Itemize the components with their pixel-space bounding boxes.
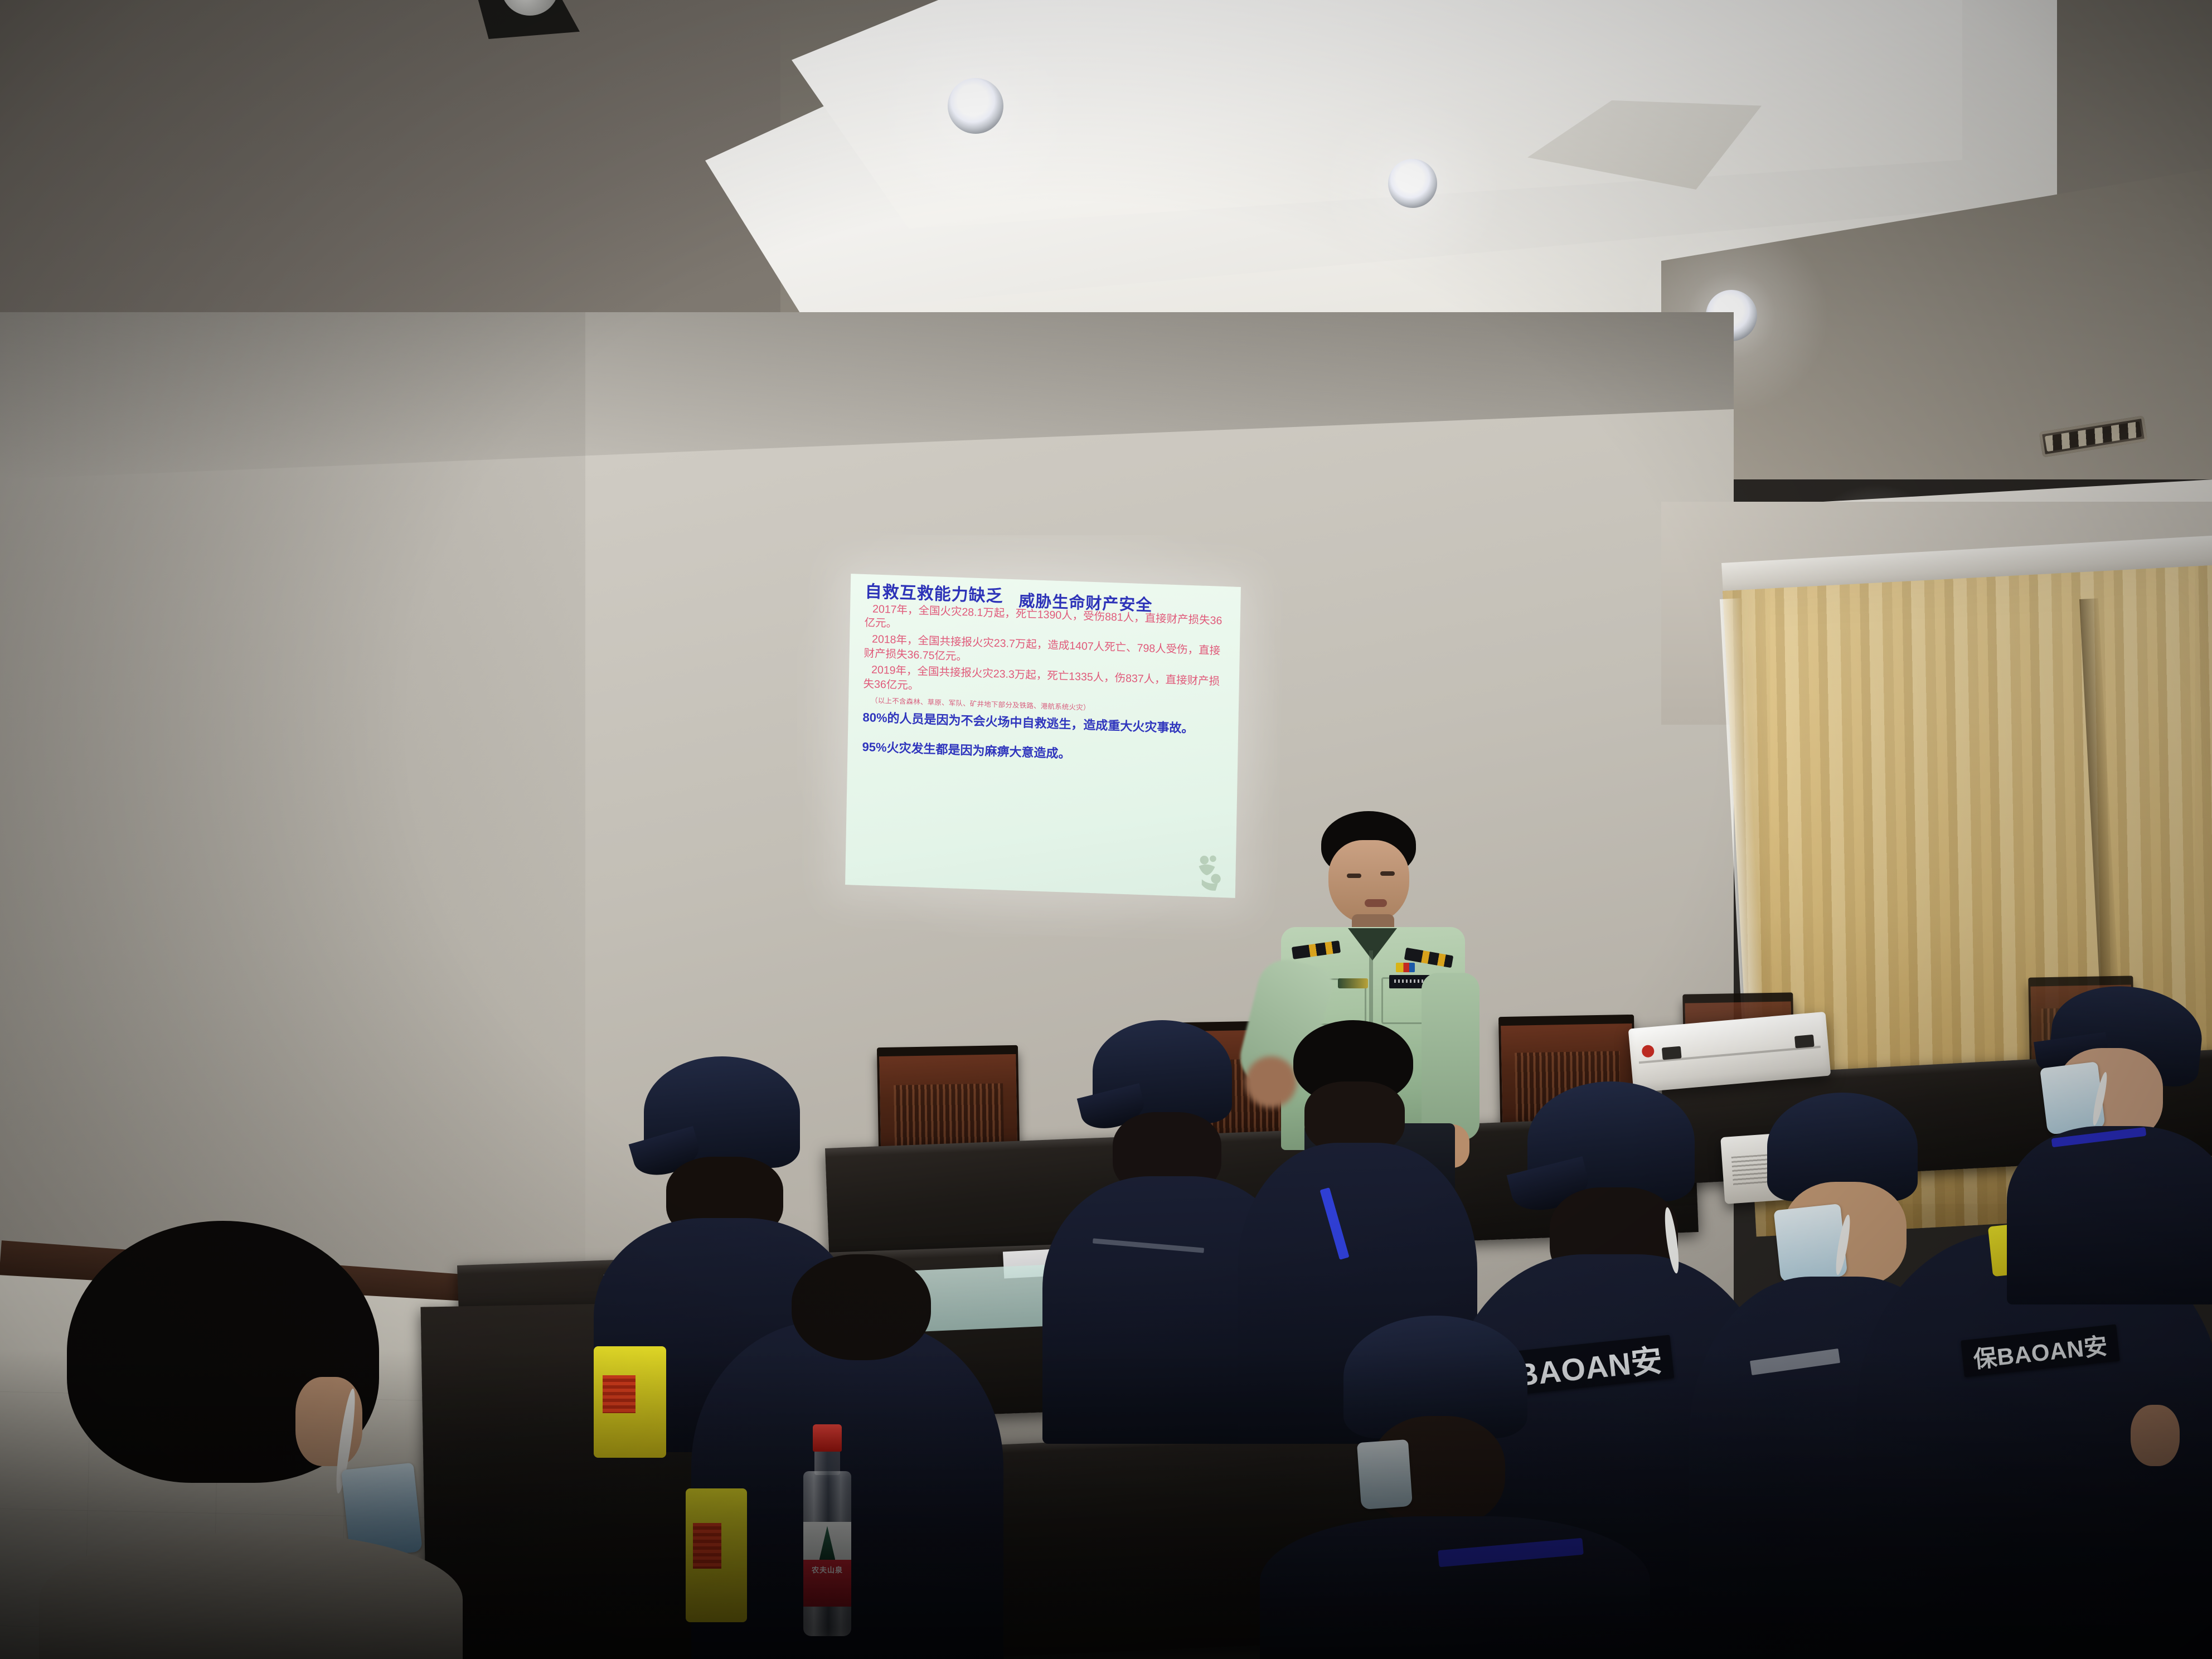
face-mask [1357, 1439, 1413, 1510]
hi-vis-vest [686, 1488, 747, 1622]
presenter-mouth [1365, 899, 1387, 907]
bottle-neck [814, 1450, 840, 1476]
attendee-shirt [39, 1533, 463, 1659]
water-bottle[interactable]: 农夫山泉 [794, 1424, 861, 1636]
attendee-front-left [28, 1221, 474, 1659]
chair-top-rail [1498, 1015, 1634, 1026]
presenter-face [1328, 840, 1409, 924]
presenter-eye-left [1347, 874, 1361, 878]
slide-emphasis-95: 95%火灾发生都是因为麻痹大意造成。 [862, 740, 1226, 767]
case-red-button-icon [1642, 1045, 1655, 1058]
slide-watermark-logo-icon [1194, 853, 1227, 893]
chair-top-rail [1682, 992, 1793, 1003]
vest-red-tag [693, 1523, 721, 1569]
attendee-bottom-center [1226, 1349, 1650, 1659]
bottle-cap [813, 1424, 842, 1452]
chair-top-rail [2028, 976, 2133, 986]
attendee-far-right [1985, 987, 2212, 1299]
attendee-jacket [1260, 1516, 1650, 1659]
projected-slide: 自救互救能力缺乏 威胁生命财产安全 2017年，全国火灾28.1万起，死亡139… [845, 574, 1241, 898]
attendee-hand [2131, 1405, 2180, 1466]
recessed-downlight-icon [948, 78, 1003, 134]
attendee-head [792, 1254, 931, 1360]
lecture-room-photo: 自救互救能力缺乏 威胁生命财产安全 2017年，全国火灾28.1万起，死亡139… [0, 0, 2212, 1659]
vest-red-tag [603, 1375, 636, 1413]
bottle-brand-text: 农夫山泉 [803, 1564, 851, 1575]
speaker-dome [501, 0, 559, 16]
recessed-downlight-icon [1388, 159, 1437, 208]
light-ring [948, 78, 1003, 134]
attendee-jacket [2007, 1126, 2212, 1304]
presenter-eye-right [1380, 871, 1395, 876]
chest-ribbon-icon [1396, 963, 1415, 972]
chest-badge-left-icon [1338, 978, 1368, 988]
hi-vis-vest [594, 1346, 666, 1458]
light-ring [1388, 159, 1437, 208]
chair-top-rail [877, 1045, 1018, 1056]
